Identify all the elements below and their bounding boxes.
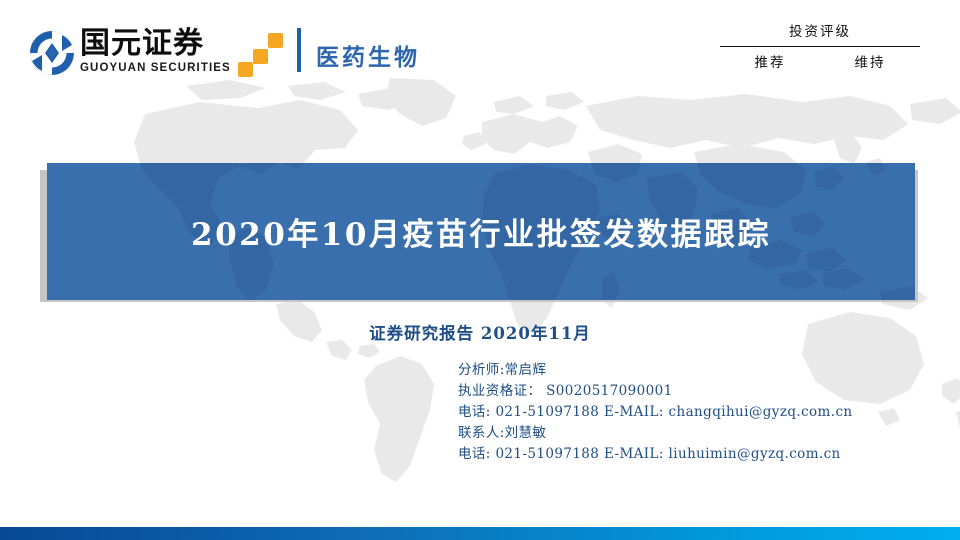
rating-value-recommend: 推荐 — [755, 53, 786, 73]
associate-name-line: 联系人:刘慧敏 — [458, 423, 853, 444]
brand-name-en: GUOYUAN SECURITIES — [80, 61, 240, 75]
guoyuan-circular-pinwheel-logo-icon — [28, 29, 76, 77]
footer-gradient-bar — [0, 527, 960, 540]
investment-rating-block: 投资评级 推荐 维持 — [720, 22, 920, 73]
rating-divider — [720, 46, 920, 47]
report-subtitle: 证券研究报告 2020年11月 — [0, 320, 960, 344]
decorative-square-icon — [238, 62, 253, 77]
investment-rating-title: 投资评级 — [720, 22, 920, 42]
sector-label: 医药生物 — [316, 38, 420, 72]
page-title: 2020年10月疫苗行业批签发数据跟踪 — [47, 163, 915, 300]
decorative-square-icon — [253, 49, 268, 64]
analyst-contact-line: 电话: 021-51097188 E-MAIL: changqihui@gyzq… — [458, 402, 853, 423]
associate-contact-line: 电话: 021-51097188 E-MAIL: liuhuimin@gyzq.… — [458, 444, 853, 465]
analyst-name-line: 分析师:常启辉 — [458, 360, 853, 381]
license-number-line: 执业资格证： S0020517090001 — [458, 381, 853, 402]
brand-wordmark: 国元证券 GUOYUAN SECURITIES — [80, 28, 240, 75]
vertical-divider — [297, 28, 301, 72]
report-cover-slide: 国元证券 GUOYUAN SECURITIES 医药生物 投资评级 推荐 维持 — [0, 0, 960, 540]
decorative-square-icon — [268, 33, 283, 48]
rating-value-maintain: 维持 — [855, 53, 886, 73]
investment-rating-values: 推荐 维持 — [720, 53, 920, 73]
contact-block: 分析师:常启辉 执业资格证： S0020517090001 电话: 021-51… — [458, 360, 853, 465]
title-banner: 2020年10月疫苗行业批签发数据跟踪 — [47, 163, 915, 300]
brand-name-cn: 国元证券 — [80, 28, 240, 60]
